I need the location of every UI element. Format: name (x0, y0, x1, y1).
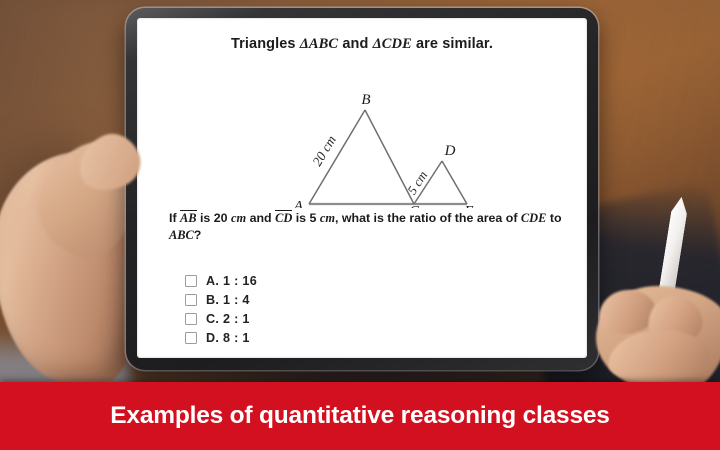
question-part-1: If (169, 211, 180, 225)
option-letter-c: C. (206, 312, 219, 326)
question-unit-cm-2: cm (320, 211, 335, 225)
question-part-8: ? (194, 228, 202, 242)
caption-banner: Examples of quantitative reasoning class… (0, 382, 720, 450)
checkbox-option-a[interactable] (185, 275, 197, 287)
option-row-c[interactable]: C. 2 : 1 (185, 309, 257, 328)
checkbox-option-b[interactable] (185, 294, 197, 306)
checkbox-option-c[interactable] (185, 313, 197, 325)
segment-DE (442, 161, 467, 204)
question-part-6: area of (477, 211, 521, 225)
question-part-4: is 5 (292, 211, 320, 225)
option-label-b: B. 1 : 4 (206, 293, 250, 307)
option-value-a: 1 : 16 (223, 274, 257, 288)
question-part-2: is 20 (197, 211, 231, 225)
tablet-screen[interactable]: Triangles ΔABC and ΔCDE are similar. A (137, 18, 587, 358)
quiz-title-triangle-cde: ΔCDE (373, 36, 412, 52)
option-label-c: C. 2 : 1 (206, 312, 250, 326)
vertex-label-E: E (463, 204, 473, 208)
question-text: If AB is 20 cm and CD is 5 cm, what is t… (169, 210, 565, 243)
question-part-5: , what is the ratio of the (335, 211, 473, 225)
option-label-d: D. 8 : 1 (206, 331, 250, 345)
question-triangle-cde: CDE (521, 211, 546, 225)
quiz-title-conjunction: and (338, 36, 372, 52)
option-row-b[interactable]: B. 1 : 4 (185, 290, 257, 309)
question-segment-ab: AB (180, 210, 197, 225)
question-triangle-abc: ABC (169, 228, 194, 242)
vertex-label-C: C (409, 204, 420, 208)
quiz-title: Triangles ΔABC and ΔCDE are similar. (137, 36, 587, 53)
question-unit-cm-1: cm (231, 211, 246, 225)
question-segment-cd: CD (275, 210, 292, 225)
option-letter-a: A. (206, 274, 219, 288)
quiz-panel: Triangles ΔABC and ΔCDE are similar. A (137, 18, 587, 358)
vertex-label-B: B (361, 92, 370, 108)
vertex-label-D: D (444, 143, 456, 159)
screenshot-stage: Triangles ΔABC and ΔCDE are similar. A (0, 0, 720, 450)
option-row-a[interactable]: A. 1 : 16 (185, 271, 257, 290)
question-part-3: and (246, 211, 275, 225)
question-part-7: to (546, 211, 561, 225)
quiz-title-prefix: Triangles (231, 36, 300, 52)
triangles-svg: A B C D E 20 cm 5 cm (137, 58, 587, 208)
option-letter-d: D. (206, 331, 219, 345)
option-row-d[interactable]: D. 8 : 1 (185, 328, 257, 347)
quiz-title-suffix: are similar. (412, 36, 493, 52)
option-value-d: 8 : 1 (223, 331, 250, 345)
option-label-a: A. 1 : 16 (206, 274, 257, 288)
option-value-c: 2 : 1 (223, 312, 250, 326)
tablet-device: Triangles ΔABC and ΔCDE are similar. A (126, 8, 598, 370)
geometry-figure: A B C D E 20 cm 5 cm (137, 58, 587, 208)
option-letter-b: B. (206, 293, 219, 307)
caption-banner-text: Examples of quantitative reasoning class… (110, 402, 610, 430)
option-value-b: 1 : 4 (223, 293, 250, 307)
side-label-20cm: 20 cm (309, 133, 339, 169)
checkbox-option-d[interactable] (185, 332, 197, 344)
quiz-title-triangle-abc: ΔABC (300, 36, 339, 52)
vertex-label-A: A (293, 199, 304, 208)
answer-options-list: A. 1 : 16 B. 1 : 4 C. 2 : 1 (185, 271, 257, 347)
